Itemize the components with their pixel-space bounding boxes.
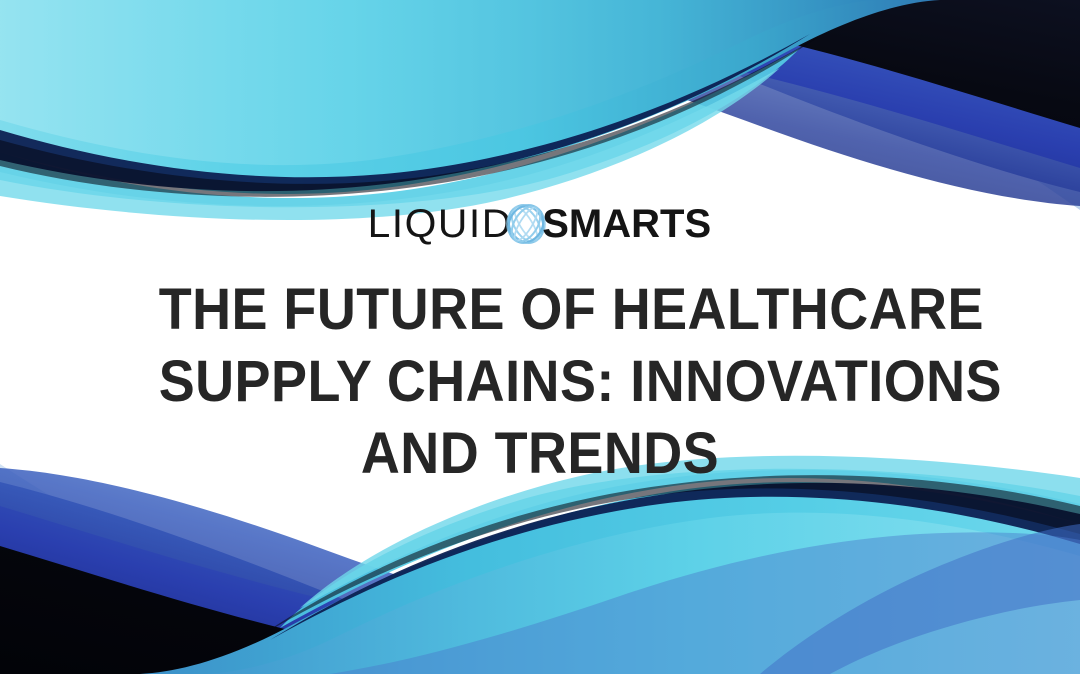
slide-content: LIQUID SMARTS THE FUTURE OF HEAL — [0, 0, 1080, 674]
title-line-1: THE FUTURE OF HEALTHCARE — [159, 274, 922, 346]
title-line-2: SUPPLY CHAINS: INNOVATIONS — [159, 346, 922, 418]
presentation-slide: LIQUID SMARTS THE FUTURE OF HEAL — [0, 0, 1080, 674]
logo-word-liquid: LIQUID — [367, 204, 512, 244]
logo-word-smarts: SMARTS — [542, 204, 711, 244]
title-line-3: AND TRENDS — [159, 418, 922, 490]
brand-logo: LIQUID SMARTS — [369, 196, 711, 252]
page-title: THE FUTURE OF HEALTHCARE SUPPLY CHAINS: … — [130, 274, 950, 490]
